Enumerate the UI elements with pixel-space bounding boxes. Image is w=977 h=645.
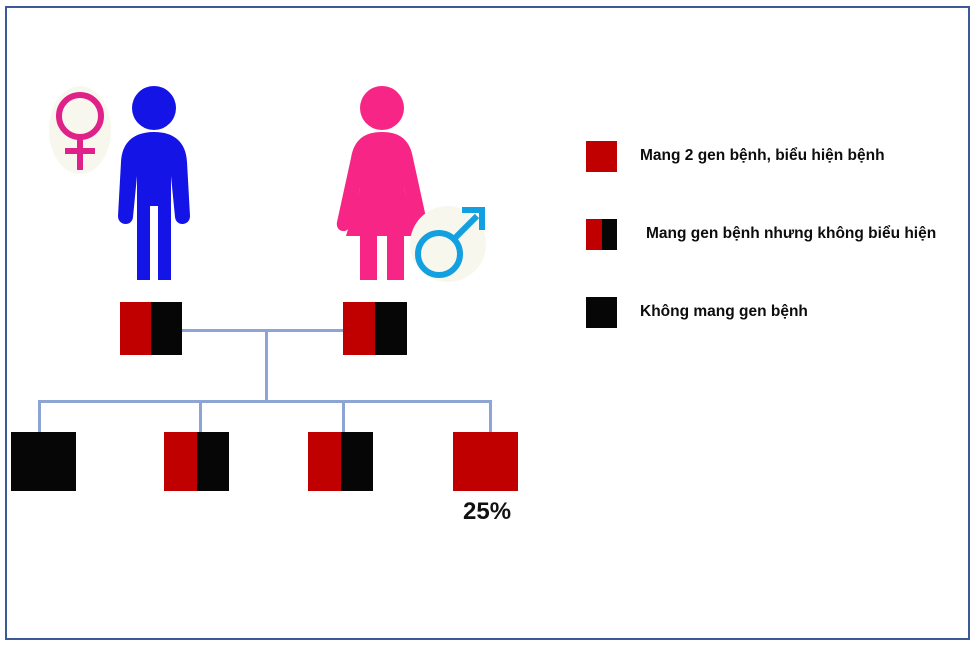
- legend3-half-left: [586, 297, 602, 328]
- pedigree-diagram-canvas: 25% Mang 2 gen bệnh, biểu hiện bệnh Mang…: [0, 0, 977, 645]
- pedigree-child-symbol-4[interactable]: [453, 432, 518, 491]
- mother-allele-right: [375, 302, 407, 355]
- mars-symbol-icon: [406, 192, 492, 284]
- child3-allele-right: [341, 432, 374, 491]
- legend-label-affected: Mang 2 gen bệnh, biểu hiện bệnh: [640, 147, 885, 164]
- child4-allele-left: [453, 432, 486, 491]
- child1-allele-left: [11, 432, 44, 491]
- legend-swatch-normal-icon: [586, 297, 617, 328]
- child2-allele-left: [164, 432, 197, 491]
- legend2-half-left: [586, 219, 602, 250]
- legend1-half-left: [586, 141, 602, 172]
- male-figure-icon: [112, 84, 196, 280]
- pedigree-child-symbol-2[interactable]: [164, 432, 229, 491]
- percent-annotation: 25%: [463, 498, 511, 526]
- father-illustration: [46, 72, 196, 282]
- pedigree-child-symbol-3[interactable]: [308, 432, 373, 491]
- sibling-drop-2: [199, 400, 202, 433]
- child2-allele-right: [197, 432, 230, 491]
- sibling-drop-1: [38, 400, 41, 433]
- father-allele-left: [120, 302, 151, 355]
- legend-swatch-affected-icon: [586, 141, 617, 172]
- sibling-drop-4: [489, 400, 492, 433]
- pedigree-child-symbol-1[interactable]: [11, 432, 76, 491]
- father-allele-right: [151, 302, 182, 355]
- child3-allele-left: [308, 432, 341, 491]
- mother-illustration: [330, 72, 480, 282]
- descent-line: [265, 329, 268, 402]
- venus-symbol-icon: [46, 80, 116, 180]
- legend1-half-right: [602, 141, 618, 172]
- legend-item-affected[interactable]: Mang 2 gen bệnh, biểu hiện bệnh: [586, 140, 946, 172]
- legend-item-carrier[interactable]: Mang gen bệnh nhưng không biểu hiện: [586, 218, 946, 250]
- legend3-half-right: [602, 297, 618, 328]
- pedigree-father-symbol[interactable]: [120, 302, 182, 355]
- mating-line: [182, 329, 343, 332]
- legend: Mang 2 gen bệnh, biểu hiện bệnh Mang gen…: [586, 140, 946, 374]
- legend-item-normal[interactable]: Không mang gen bệnh: [586, 296, 946, 328]
- legend-label-carrier: Mang gen bệnh nhưng không biểu hiện: [646, 225, 936, 242]
- child1-allele-right: [44, 432, 77, 491]
- pedigree-mother-symbol[interactable]: [343, 302, 407, 355]
- legend2-half-right: [602, 219, 618, 250]
- sibling-drop-3: [342, 400, 345, 433]
- child4-allele-right: [486, 432, 519, 491]
- legend-label-normal: Không mang gen bệnh: [640, 303, 808, 320]
- sibship-line: [38, 400, 492, 403]
- mother-allele-left: [343, 302, 375, 355]
- legend-swatch-carrier-icon: [586, 219, 617, 250]
